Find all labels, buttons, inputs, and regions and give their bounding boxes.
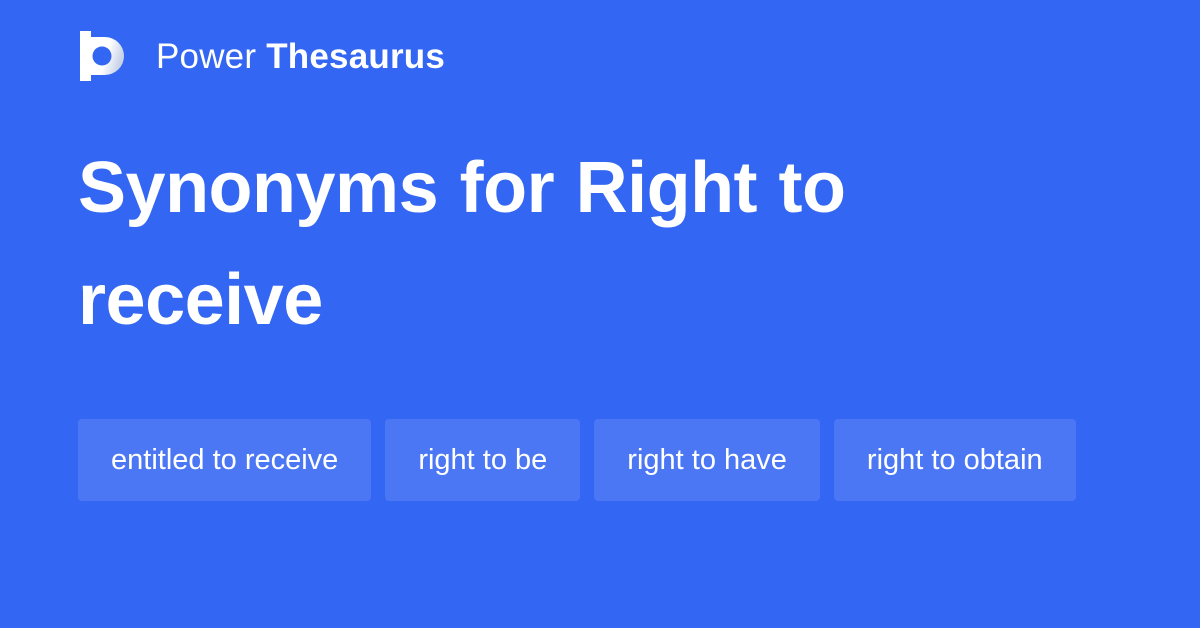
og-card: Power Thesaurus Synonyms for Right to re… [0,0,1200,628]
synonym-chip[interactable]: entitled to receive [78,419,371,501]
power-thesaurus-logo-icon [80,31,126,81]
synonym-chip-list: entitled to receive right to be right to… [78,419,1118,501]
synonym-chip[interactable]: right to have [594,419,820,501]
brand-word-power: Power [156,39,256,74]
brand-word-thesaurus: Thesaurus [266,39,445,74]
brand-wordmark: Power Thesaurus [156,39,445,74]
synonym-chip[interactable]: right to be [385,419,580,501]
page-title: Synonyms for Right to receive [78,133,1038,356]
brand-header[interactable]: Power Thesaurus [80,28,445,84]
synonym-chip[interactable]: right to obtain [834,419,1076,501]
